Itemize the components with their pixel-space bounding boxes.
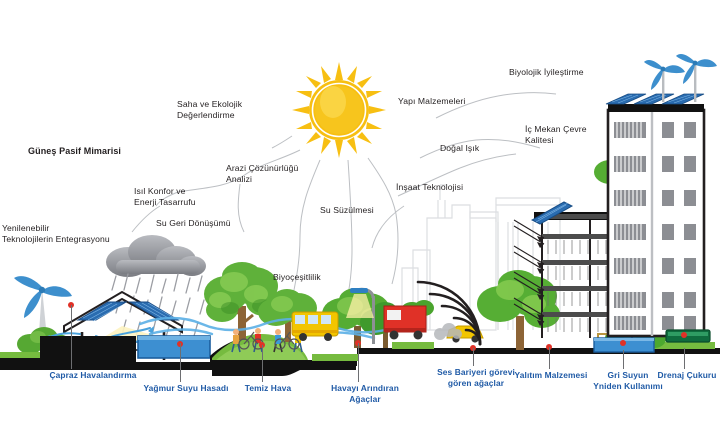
- diagram-label-isil-konfor: Isıl Konfor ve Enerji Tasarrufu: [134, 186, 244, 208]
- callout-yagmur-suyu-hasadi: Yağmur Suyu Hasadı: [136, 383, 236, 394]
- diagram-label-yapi-malzemeleri: Yapı Malzemeleri: [398, 96, 503, 107]
- diagram-label-saha-ve-ekolojik: Saha ve Ekolojik Değerlendirme: [177, 99, 292, 121]
- sound-wave-icon: [418, 276, 490, 348]
- callout-temiz-hava: Temiz Hava: [235, 383, 301, 394]
- callout-gri-suyun-yeniden-kullanimi-line2: Yniden Kullanımı: [593, 381, 663, 391]
- diagram-label-su-geri-donusumu: Su Geri Dönüşümü: [156, 218, 266, 229]
- diagram-label-biyocesitlilik: Biyoçeşitlilik: [273, 272, 353, 283]
- callout-leader-gri-suyun-yeniden-kullanimi: [623, 350, 624, 369]
- rooftop-wind-turbines: [644, 54, 720, 102]
- solar-canopy-icon: [528, 198, 574, 226]
- callout-gri-suyun-yeniden-kullanimi-line1: Gri Suyun: [608, 370, 649, 380]
- marker-dot: [681, 332, 687, 338]
- callout-leader-temiz-hava: [262, 345, 263, 382]
- callout-drenaj-cukuru: Drenaj Çukuru: [648, 370, 720, 381]
- diagram-label-arazi-cozunurlugu: Arazi Çözünürlüğü Analizi: [226, 163, 341, 185]
- callout-yalitim-malzemesi: Yalıtım Malzemesi: [503, 370, 599, 381]
- callout-leader-yalitim-malzemesi: [549, 347, 550, 369]
- city-bus-icon: [290, 310, 342, 342]
- diagram-label-biyolojik-iyilestirme: Biyolojik İyileştirme: [509, 67, 629, 78]
- callout-leader-havayi-arindiran-agaclar: [358, 343, 359, 382]
- drainage-pit: [666, 330, 712, 350]
- callout-capraz-havalandirma: Çapraz Havalandırma: [41, 370, 145, 381]
- diagram-label-yenilenebilir-teknolojiler: Yenilenebilir Teknolojilerin Entegrasyon…: [2, 223, 142, 245]
- callout-leader-drenaj-cukuru: [684, 348, 685, 369]
- infographic-canvas: Güneş Pasif MimarisiYenilenebilir Teknol…: [0, 0, 720, 427]
- sun-icon: [296, 62, 382, 162]
- diagram-label-gunes-pasif-mimarisi: Güneş Pasif Mimarisi: [28, 146, 158, 157]
- diagram-label-dogal-isik: Doğal Işık: [440, 143, 510, 154]
- callout-leader-yagmur-suyu-hasadi: [180, 343, 181, 382]
- diagram-label-ic-mekan-cevre: İç Mekan Çevre Kalitesi: [525, 124, 635, 146]
- marker-dot: [620, 340, 626, 346]
- callout-leader-ses-bariyeri-agaclar: [473, 348, 474, 366]
- callout-havayi-arindiran-agaclar: Havayı Arındıran Ağaçlar: [320, 383, 410, 404]
- callout-leader-capraz-havalandirma: [71, 305, 72, 369]
- diagram-label-insaat-teknolojisi: İnşaat Teknolojisi: [396, 182, 501, 193]
- diagram-label-su-suzulmesi: Su Süzülmesi: [320, 205, 410, 216]
